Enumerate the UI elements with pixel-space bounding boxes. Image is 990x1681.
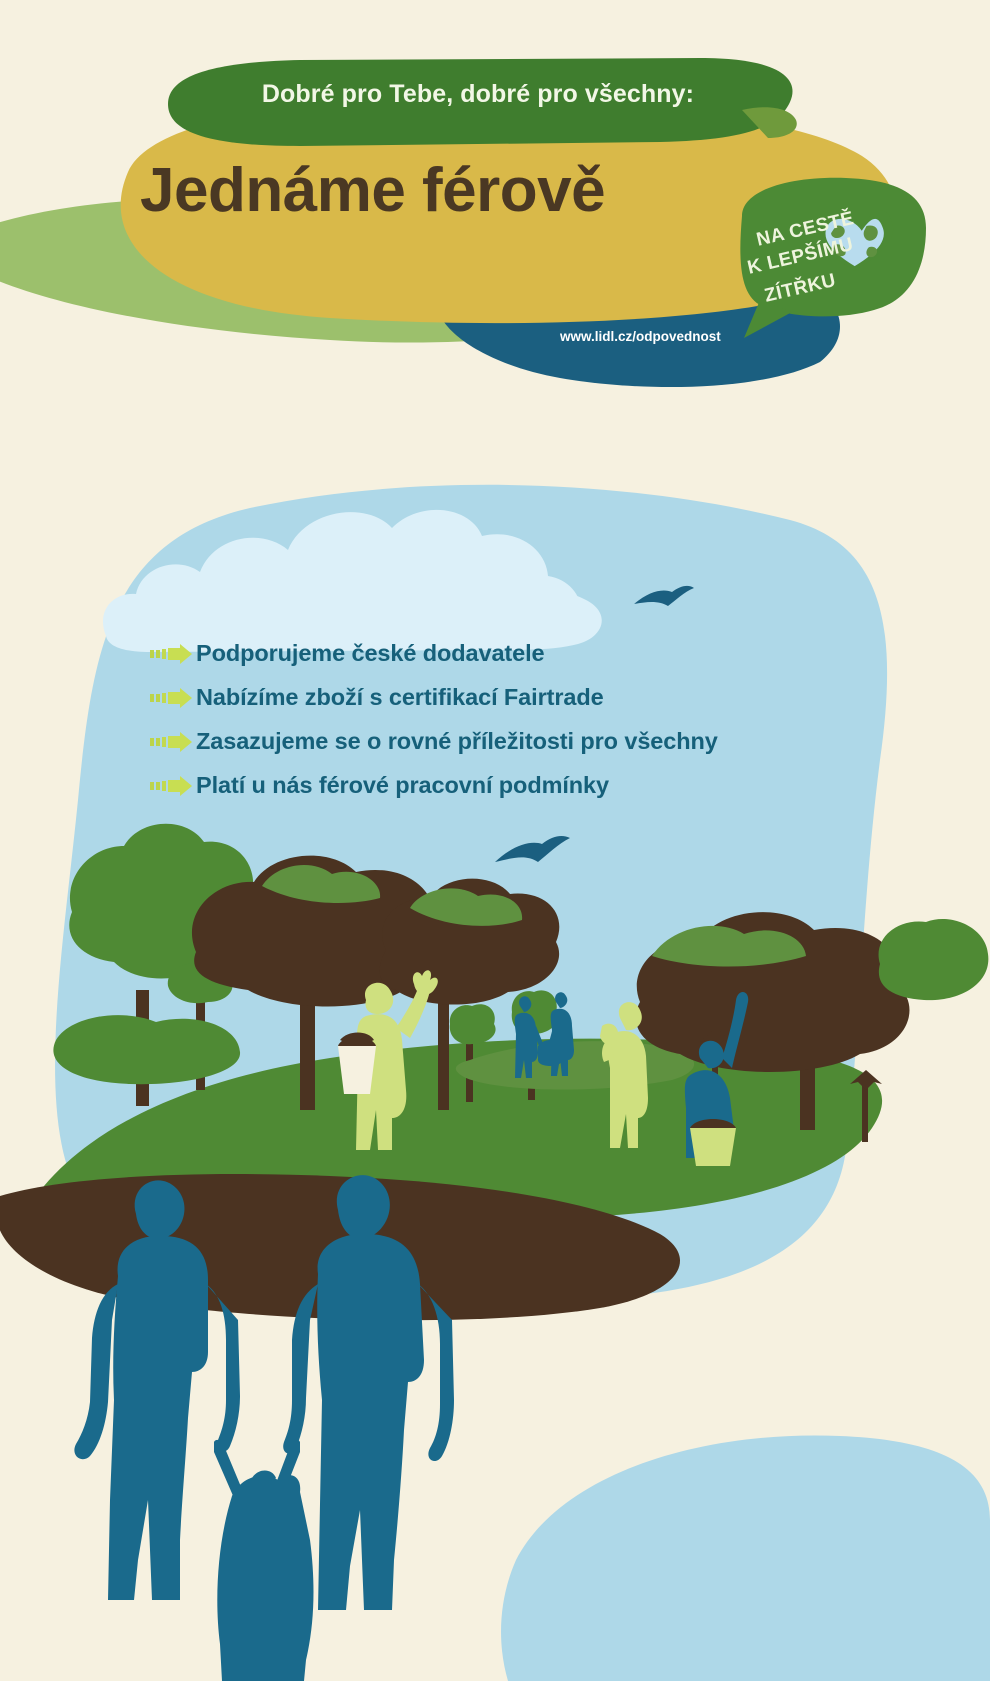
list-item: Nabízíme zboží s certifikací Fairtrade: [150, 677, 910, 718]
claims-list: Podporujeme české dodavatele Nabízíme zb…: [150, 633, 910, 809]
shopping-bag-small: [538, 1040, 562, 1066]
list-item-label: Zasazujeme se o rovné příležitosti pro v…: [196, 728, 718, 755]
list-item: Platí u nás férové pracovní podmínky: [150, 765, 910, 806]
arrow-right-icon: [150, 775, 196, 797]
list-item-label: Platí u nás férové pracovní podmínky: [196, 772, 609, 799]
shopping-bag: [214, 1440, 313, 1681]
arrow-right-icon: [150, 643, 196, 665]
website-url[interactable]: www.lidl.cz/odpovednost: [560, 329, 721, 344]
bottom-blue-blob: [501, 1435, 990, 1681]
list-item-label: Podporujeme české dodavatele: [196, 640, 545, 667]
list-item: Zasazujeme se o rovné příležitosti pro v…: [150, 721, 910, 762]
list-item-label: Nabízíme zboží s certifikací Fairtrade: [196, 684, 604, 711]
list-item: Podporujeme české dodavatele: [150, 633, 910, 674]
badge-line-3: ZÍTŘKU: [763, 270, 839, 308]
poster-root: Dobré pro Tebe, dobré pro všechny: Jedná…: [0, 0, 990, 1681]
sustainability-badge: NA CESTĚ K LEPŠÍMU ZÍTŘKU: [735, 218, 895, 338]
page-title: Jednáme férově: [140, 158, 760, 223]
header-eyebrow: Dobré pro Tebe, dobré pro všechny:: [178, 80, 778, 109]
arrow-right-icon: [150, 687, 196, 709]
shrub-left: [53, 1015, 240, 1084]
tree-green-right-edge: [879, 919, 989, 1000]
arrow-right-icon: [150, 731, 196, 753]
